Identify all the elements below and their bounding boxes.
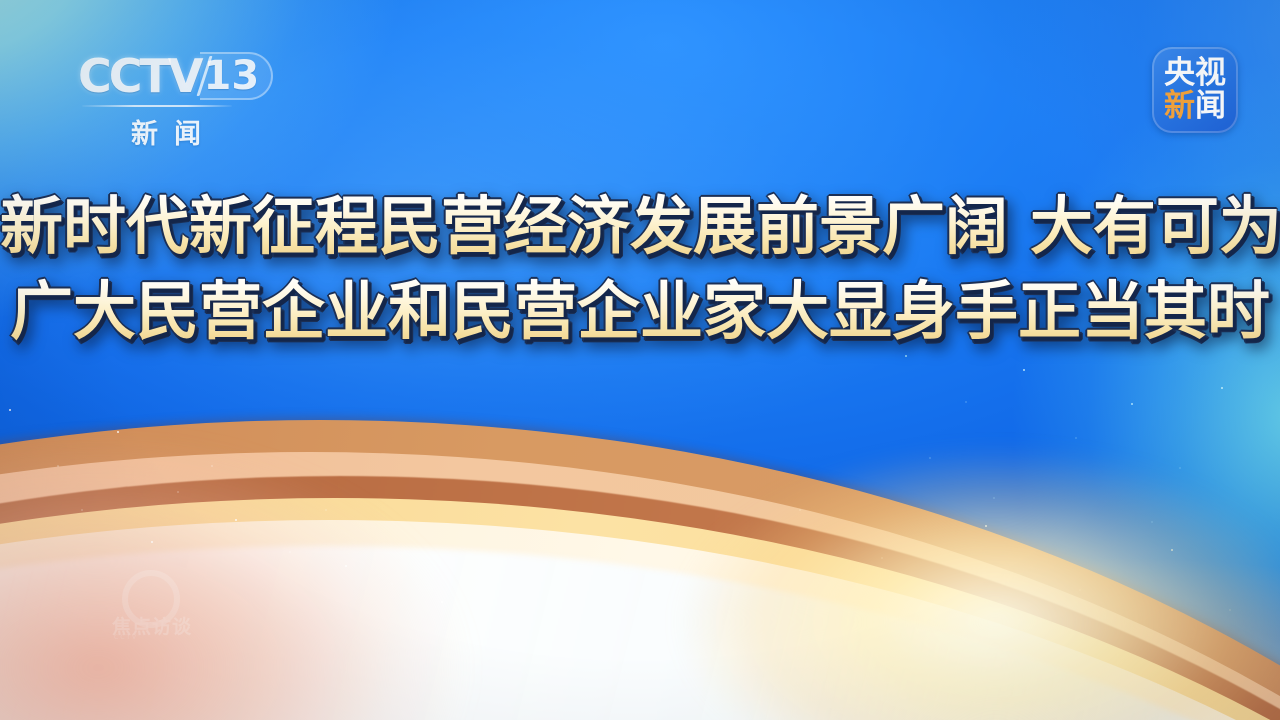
cctv-news-logo-line2: 新 闻 (1164, 91, 1226, 122)
broadcast-title-card: CCTV 13 新闻 央视 新 闻 新时代新征程民营经济发展前景广阔 大有可为 … (0, 0, 1280, 720)
cctv-news-logo-line1: 央视 (1164, 58, 1226, 89)
cctv-wordmark: CCTV (78, 53, 201, 99)
headline-block: 新时代新征程民营经济发展前景广阔 大有可为 广大民营企业和民营企业家大显身手正当… (0, 192, 1280, 347)
cctv-news-logo-text-xin: 新 (1164, 91, 1195, 122)
headline-line-1: 新时代新征程民营经济发展前景广阔 大有可为 (0, 192, 1280, 263)
cctv13-channel-logo: CCTV 13 新闻 (78, 48, 278, 140)
cctv-news-logo-text-wen: 闻 (1195, 91, 1226, 122)
cctv-channel-number: 13 (204, 56, 260, 96)
cctv13-logo-row: CCTV 13 (78, 48, 278, 104)
headline-line-2: 广大民营企业和民营企业家大显身手正当其时 (0, 277, 1280, 348)
cctv-underline-rule (82, 105, 232, 107)
cctv-news-logo-text-top: 央视 (1164, 58, 1226, 89)
cctv-channel-sublabel: 新闻 (78, 112, 254, 151)
cctv-news-app-logo: 央视 新 闻 (1152, 47, 1238, 133)
